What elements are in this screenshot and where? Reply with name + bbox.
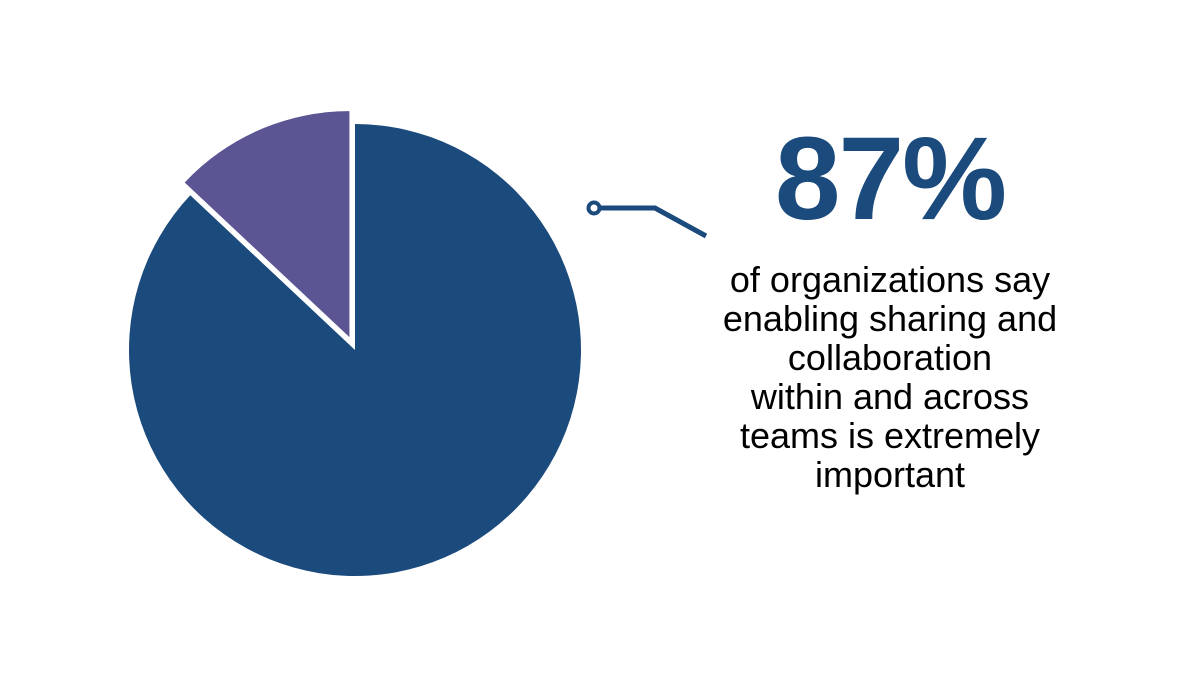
stat-caption: of organizations say enabling sharing an… xyxy=(690,260,1090,494)
pie-chart xyxy=(0,0,700,700)
circle-marker-icon xyxy=(589,203,600,214)
pie-chart-svg xyxy=(0,0,700,700)
infographic-canvas: 87% of organizations say enabling sharin… xyxy=(0,0,1200,700)
pie-slice-group xyxy=(129,111,581,576)
stat-block: 87% of organizations say enabling sharin… xyxy=(690,120,1090,494)
stat-value: 87% xyxy=(690,120,1090,238)
